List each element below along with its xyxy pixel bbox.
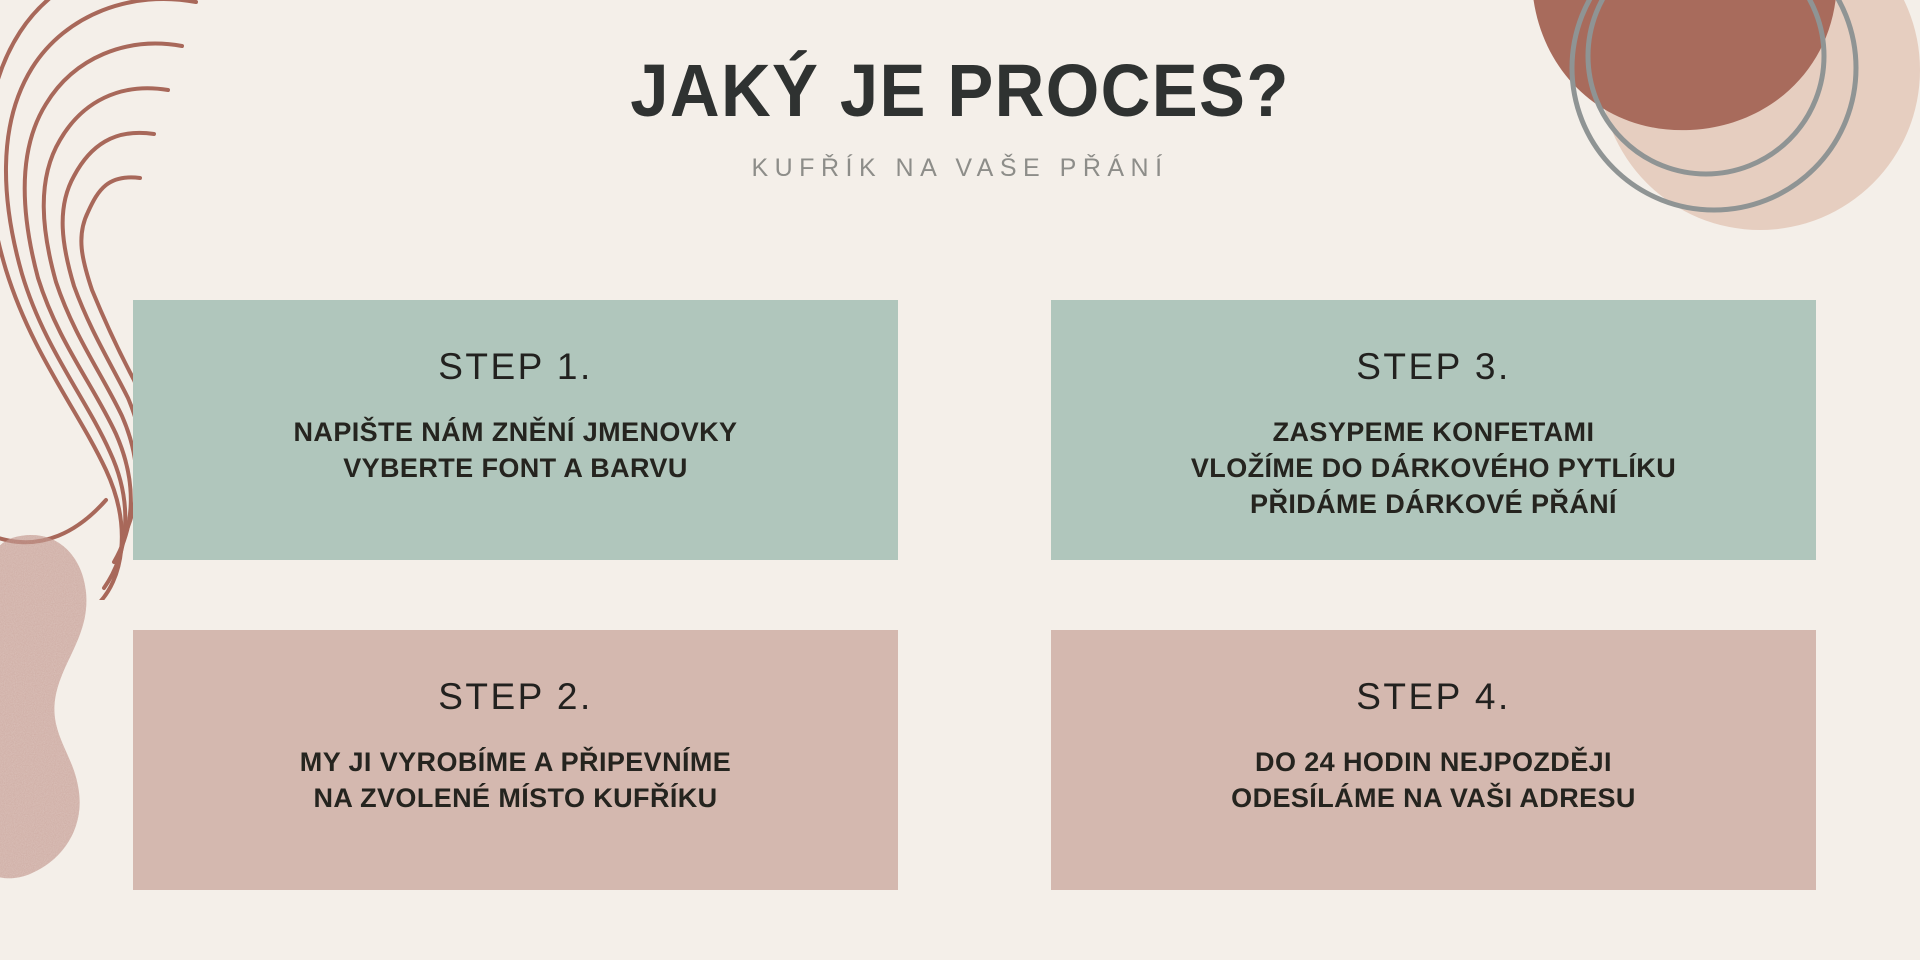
- step-card-label: STEP 4.: [1356, 678, 1511, 715]
- step-card-body-line: VYBERTE FONT A BARVU: [294, 451, 738, 487]
- step-card-body-line: DO 24 HODIN NEJPOZDĚJI: [1231, 745, 1636, 781]
- step-card-body-line: NAPIŠTE NÁM ZNĚNÍ JMENOVKY: [294, 415, 738, 451]
- slide-canvas: JAKÝ JE PROCES? KUFŘÍK NA VAŠE PŘÁNÍ STE…: [0, 0, 1920, 960]
- step-card-body-line: PŘIDÁME DÁRKOVÉ PŘÁNÍ: [1191, 487, 1676, 523]
- step-card-step-2: STEP 2.MY JI VYROBÍME A PŘIPEVNÍMENA ZVO…: [133, 630, 898, 890]
- steps-grid: STEP 1.NAPIŠTE NÁM ZNĚNÍ JMENOVKYVYBERTE…: [0, 300, 1920, 900]
- step-card-body-line: VLOŽÍME DO DÁRKOVÉHO PYTLÍKU: [1191, 451, 1676, 487]
- step-card-step-3: STEP 3.ZASYPEME KONFETAMIVLOŽÍME DO DÁRK…: [1051, 300, 1816, 560]
- step-card-step-4: STEP 4.DO 24 HODIN NEJPOZDĚJIODESÍLÁME N…: [1051, 630, 1816, 890]
- step-card-body-line: MY JI VYROBÍME A PŘIPEVNÍME: [300, 745, 731, 781]
- step-card-label: STEP 3.: [1356, 348, 1511, 385]
- step-card-body-line: NA ZVOLENÉ MÍSTO KUFŘÍKU: [300, 781, 731, 817]
- step-card-body: MY JI VYROBÍME A PŘIPEVNÍMENA ZVOLENÉ MÍ…: [300, 745, 731, 817]
- page-title: JAKÝ JE PROCES?: [67, 52, 1853, 130]
- step-card-label: STEP 2.: [438, 678, 593, 715]
- page-subtitle: KUFŘÍK NA VAŠE PŘÁNÍ: [0, 156, 1920, 181]
- step-card-body: ZASYPEME KONFETAMIVLOŽÍME DO DÁRKOVÉHO P…: [1191, 415, 1676, 523]
- step-card-body-line: ZASYPEME KONFETAMI: [1191, 415, 1676, 451]
- step-card-body: NAPIŠTE NÁM ZNĚNÍ JMENOVKYVYBERTE FONT A…: [294, 415, 738, 487]
- step-card-body-line: ODESÍLÁME NA VAŠI ADRESU: [1231, 781, 1636, 817]
- step-card-step-1: STEP 1.NAPIŠTE NÁM ZNĚNÍ JMENOVKYVYBERTE…: [133, 300, 898, 560]
- step-card-label: STEP 1.: [438, 348, 593, 385]
- step-card-body: DO 24 HODIN NEJPOZDĚJIODESÍLÁME NA VAŠI …: [1231, 745, 1636, 817]
- header: JAKÝ JE PROCES? KUFŘÍK NA VAŠE PŘÁNÍ: [0, 52, 1920, 181]
